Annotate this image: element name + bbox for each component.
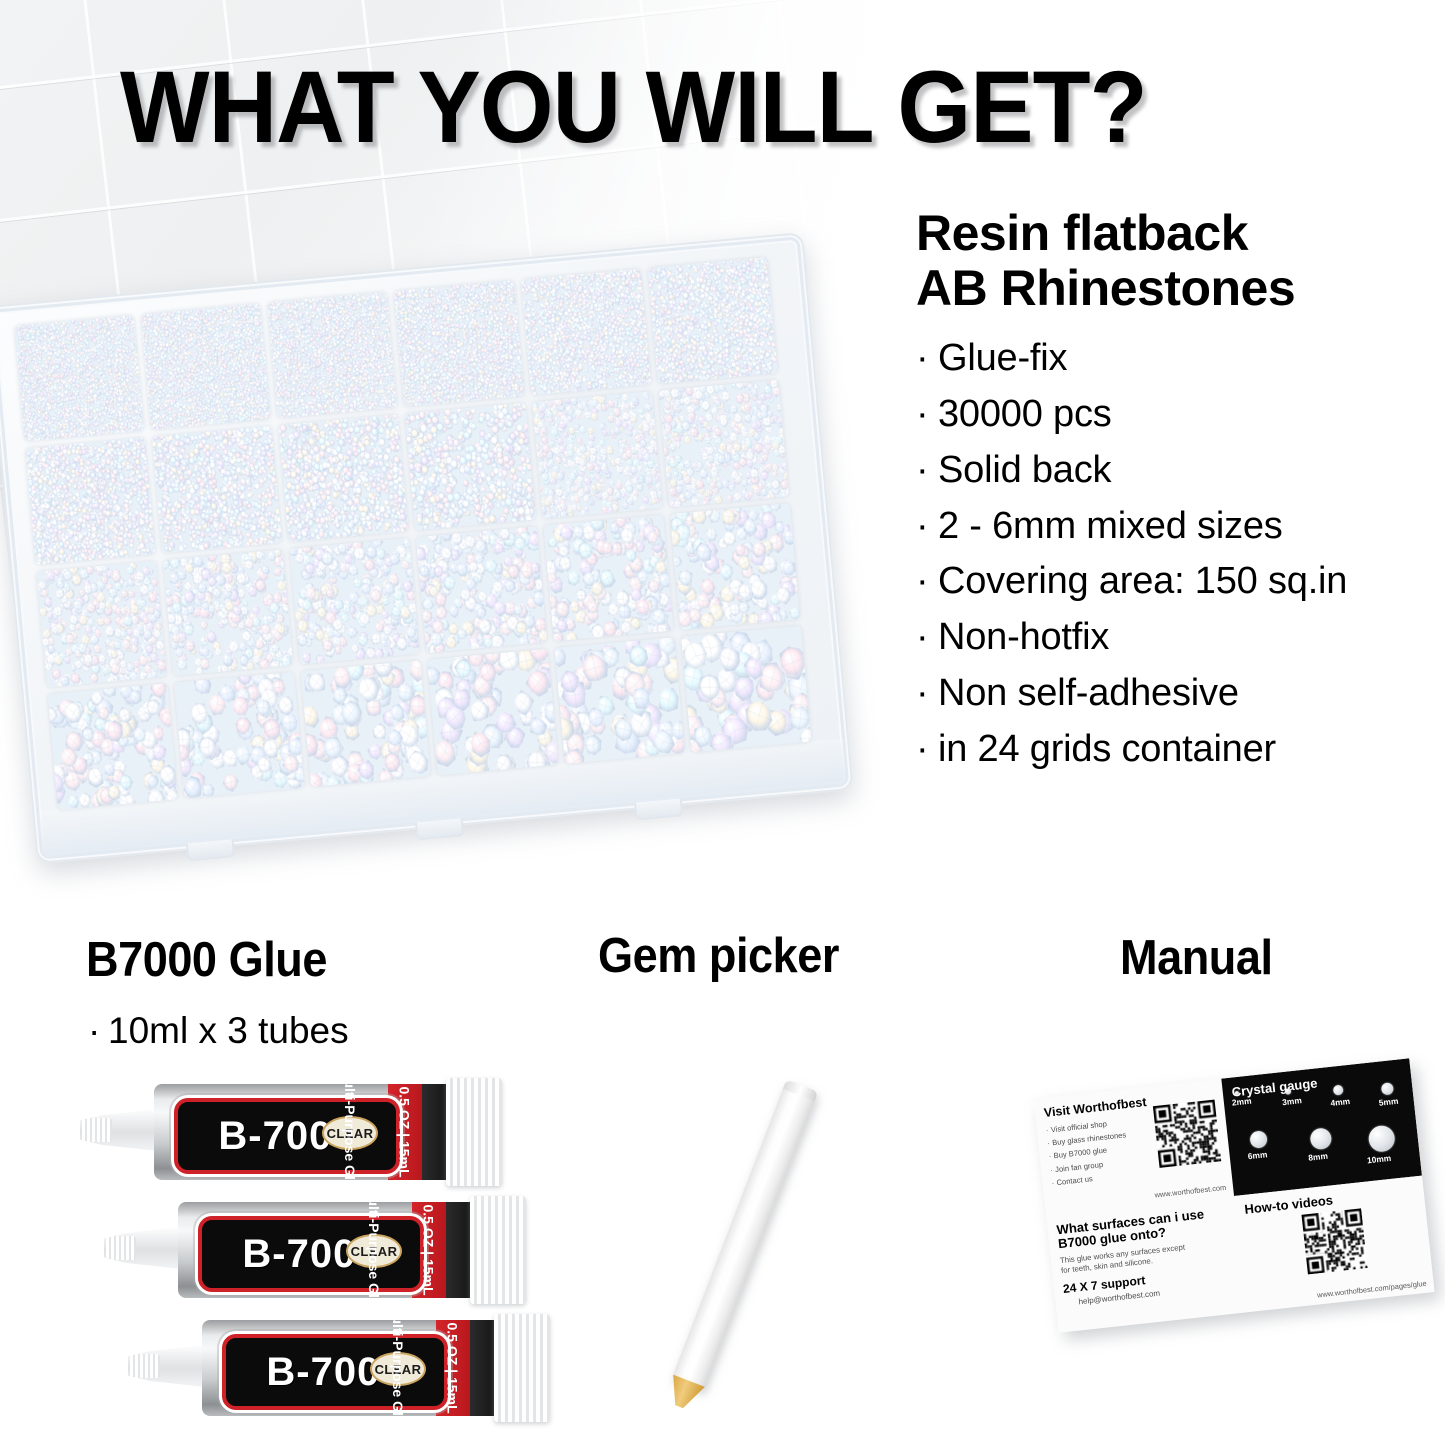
qr-code-shop (1153, 1100, 1221, 1168)
bullet-icon: · (88, 1010, 108, 1052)
crystal-gauge-label: 10mm (1366, 1153, 1391, 1166)
rhinestone-compartment (405, 403, 535, 530)
pencil-cap (783, 1080, 818, 1102)
rhinestone-compartment (14, 315, 144, 442)
page-title: WHAT YOU WILL GET? (120, 56, 1264, 158)
rhinestone-compartment (267, 292, 397, 419)
feature-label: Non-hotfix (938, 616, 1109, 658)
crystal-gauge-dot (1309, 1127, 1332, 1150)
bullet-icon: · (916, 387, 938, 443)
rhinestone-compartment (647, 257, 777, 384)
rhinestone-compartment (416, 526, 546, 653)
feature-list: ·Glue-fix·30000 pcs·Solid back·2 - 6mm m… (916, 331, 1436, 778)
manual-card: Visit Worthofbest ·Visit official shop·B… (1033, 1058, 1434, 1332)
qr-code-howto (1301, 1208, 1367, 1274)
rhinestone-compartment (141, 303, 271, 430)
tube-body: B-7000CLEARMulti-Purpose Glue0.5 OZ | 15… (202, 1320, 502, 1416)
glue-tube: B-7000CLEARMulti-Purpose Glue0.5 OZ | 15… (80, 1078, 500, 1186)
crystal-gauge-dot (1381, 1082, 1394, 1095)
manual-quadrant-visit: Visit Worthofbest ·Visit official shop·B… (1033, 1079, 1234, 1216)
gem-picker (650, 1065, 950, 1415)
feature-item: ·Non-hotfix (916, 610, 1436, 666)
bullet-icon: · (916, 554, 938, 610)
tube-body: B-7000CLEARMulti-Purpose Glue0.5 OZ | 15… (154, 1084, 454, 1180)
manual-quadrant-crystal-gauge: Crystal gauge 2mm3mm4mm5mm6mm8mm10mm (1221, 1058, 1422, 1195)
feature-item: ·Glue-fix (916, 331, 1436, 387)
bullet-icon: · (916, 331, 938, 387)
product-spec-panel: Resin flatback AB Rhinestones ·Glue-fix·… (916, 206, 1436, 778)
tube-crimp-seal (446, 1078, 502, 1186)
rhinestone-compartment (174, 672, 304, 799)
glue-tube-group: B-7000CLEARMulti-Purpose Glue0.5 OZ | 15… (80, 1078, 550, 1428)
tube-crimp-seal (470, 1196, 526, 1304)
bullet-icon: · (916, 499, 938, 555)
feature-item: ·Non self-adhesive (916, 666, 1436, 722)
tube-volume-text: 0.5 OZ | 15mL (396, 1086, 412, 1177)
crystal-gauge-dot (1333, 1085, 1344, 1096)
rhinestone-compartment (428, 649, 558, 776)
container-latch-tab (634, 798, 683, 820)
rhinestone-compartment (681, 626, 811, 753)
glue-detail-line: ·10ml x 3 tubes (88, 1010, 349, 1052)
rhinestone-compartment (48, 683, 178, 810)
crystal-gauge-label: 4mm (1330, 1096, 1351, 1108)
crystal-gauge-label: 3mm (1282, 1095, 1303, 1107)
container-latch-tab (415, 818, 464, 840)
rhinestone-compartment (670, 503, 800, 630)
rhinestone-compartment (543, 514, 673, 641)
rhinestone-compartment (532, 392, 662, 519)
crystal-gauge-dot (1367, 1124, 1396, 1153)
feature-label: 2 - 6mm mixed sizes (938, 505, 1283, 547)
rhinestone-compartment (279, 415, 409, 542)
bullet-icon: · (916, 722, 938, 778)
rhinestone-compartment (25, 438, 155, 565)
product-heading-line1: Resin flatback (916, 205, 1248, 261)
tube-crimp-seal (494, 1314, 550, 1422)
crystal-gauge-heading: Crystal gauge (1231, 1067, 1403, 1100)
section-heading-picker: Gem picker (598, 928, 839, 984)
crystal-gauge-label: 8mm (1308, 1151, 1329, 1163)
feature-label: Covering area: 150 sq.in (938, 560, 1347, 602)
pencil-wax-tip (663, 1375, 705, 1413)
product-heading-line2: AB Rhinestones (916, 260, 1295, 316)
feature-label: Solid back (938, 449, 1111, 491)
rhinestone-compartment (301, 660, 431, 787)
feature-item: ·Covering area: 150 sq.in (916, 554, 1436, 610)
section-heading-manual: Manual (1120, 930, 1273, 986)
rhinestone-compartment (37, 560, 167, 687)
rhinestone-compartment (163, 549, 293, 676)
feature-label: Glue-fix (938, 337, 1067, 379)
product-heading: Resin flatback AB Rhinestones (916, 206, 1436, 315)
rhinestone-compartment (554, 637, 684, 764)
section-heading-glue: B7000 Glue (86, 932, 327, 988)
howto-url: www.worthofbest.com/pages/glue (1317, 1279, 1427, 1300)
glue-tube: B-7000CLEARMulti-Purpose Glue0.5 OZ | 15… (128, 1314, 548, 1422)
tube-purpose-text: Multi-Purpose Glue (342, 1068, 358, 1196)
bullet-icon: · (916, 666, 938, 722)
manual-quadrant-surfaces: What surfaces can i use B7000 glue onto?… (1046, 1196, 1247, 1333)
feature-item: ·Solid back (916, 443, 1436, 499)
tube-purpose-text: Multi-Purpose Glue (390, 1304, 406, 1432)
tube-volume-text: 0.5 OZ | 15mL (444, 1322, 460, 1413)
rhinestone-compartment (394, 280, 524, 407)
visit-item-label: Contact us (1056, 1174, 1093, 1187)
glue-tube: B-7000CLEARMulti-Purpose Glue0.5 OZ | 15… (104, 1196, 524, 1304)
glue-detail-text: 10ml x 3 tubes (108, 1010, 349, 1051)
rhinestone-container (0, 232, 854, 864)
gem-picker-pencil (672, 1080, 818, 1391)
container-latch-tab (186, 839, 235, 861)
feature-item: ·2 - 6mm mixed sizes (916, 499, 1436, 555)
manual-quadrant-howto: How-to videos www.worthofbest.com/pages/… (1234, 1175, 1435, 1312)
rhinestone-compartment (152, 426, 282, 553)
bullet-icon: · (916, 610, 938, 666)
feature-item: ·in 24 grids container (916, 722, 1436, 778)
feature-label: in 24 grids container (938, 728, 1276, 770)
tube-purpose-text: Multi-Purpose Glue (366, 1186, 382, 1314)
crystal-gauge-label: 2mm (1231, 1096, 1252, 1108)
feature-label: 30000 pcs (938, 393, 1112, 435)
feature-label: Non self-adhesive (938, 672, 1239, 714)
tube-volume-text: 0.5 OZ | 15mL (420, 1204, 436, 1295)
rhinestone-compartment (521, 269, 651, 396)
crystal-gauge-label: 6mm (1247, 1149, 1268, 1161)
crystal-gauge-label: 5mm (1378, 1096, 1399, 1108)
tube-body: B-7000CLEARMulti-Purpose Glue0.5 OZ | 15… (178, 1202, 478, 1298)
crystal-gauge-dot (1249, 1130, 1268, 1149)
feature-item: ·30000 pcs (916, 387, 1436, 443)
rhinestone-compartment (290, 537, 420, 664)
bullet-icon: · (916, 443, 938, 499)
rhinestone-compartment (659, 380, 789, 507)
compartment-grid (14, 257, 811, 810)
